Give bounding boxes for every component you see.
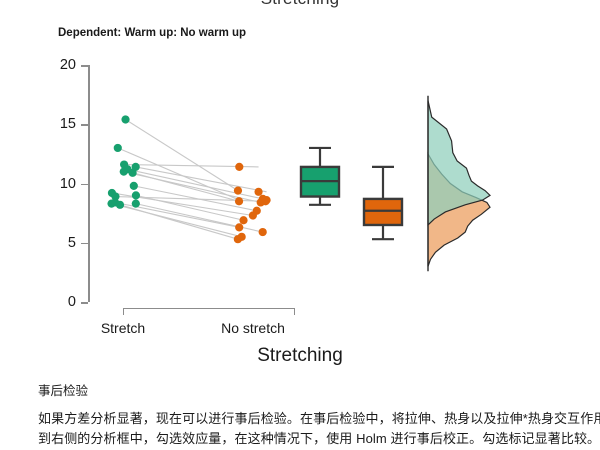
plot-title: Stretching — [0, 0, 600, 9]
scatter-points-no-stretch — [234, 163, 271, 243]
screenshot-root: Stretching Dependent: Warm up: No warm u… — [0, 0, 600, 450]
section-heading: 事后检验 — [38, 380, 88, 399]
x-axis-title: Stretching — [0, 345, 600, 367]
density-group — [428, 96, 490, 271]
x-tick-label-no-stretch: No stretch — [221, 320, 285, 336]
paragraph-line-1: 如果方差分析显著，现在可以进行事后检验。在事后检验中，将拉伸、热身以及拉伸*热身… — [38, 408, 600, 427]
x-axis-bracket — [123, 308, 295, 315]
statistics-figure: Dependent: Warm up: No warm up 0 5 10 15… — [0, 20, 600, 360]
plot-panel: 0 5 10 15 20 Stretch No stretch Stretchi… — [0, 20, 600, 360]
x-tick-label-stretch: Stretch — [101, 320, 145, 336]
boxplot-group — [301, 148, 402, 239]
paragraph-line-2: 到右侧的分析框中，勾选效应量，在这种情况下，使用 Holm 进行事后校正。勾选标… — [38, 428, 600, 447]
plot-marks — [0, 20, 600, 360]
section-divider — [0, 368, 600, 369]
